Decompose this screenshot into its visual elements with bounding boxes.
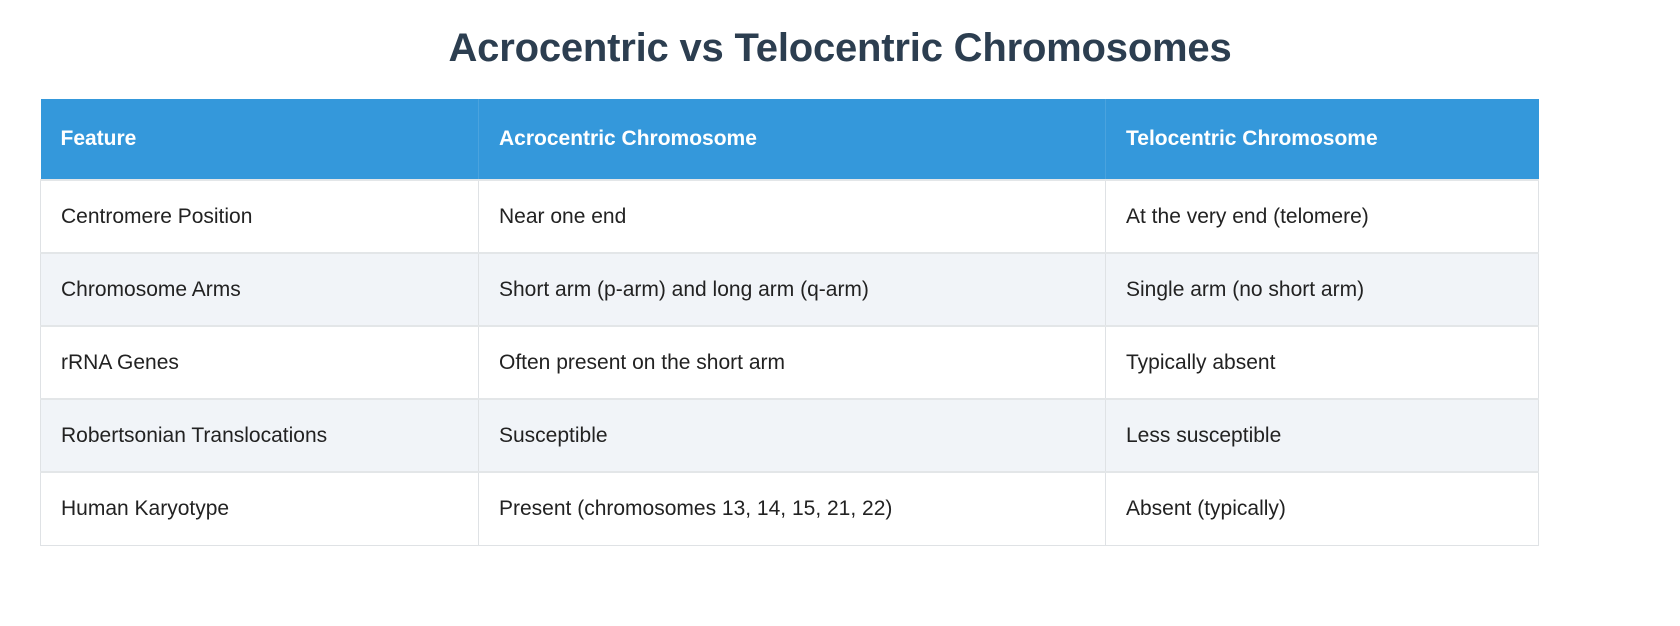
cell-acrocentric: Susceptible <box>479 399 1106 472</box>
cell-telocentric: At the very end (telomere) <box>1106 180 1539 253</box>
cell-telocentric: Single arm (no short arm) <box>1106 253 1539 326</box>
cell-acrocentric: Present (chromosomes 13, 14, 15, 21, 22) <box>479 472 1106 545</box>
cell-feature: Robertsonian Translocations <box>41 399 479 472</box>
cell-telocentric: Absent (typically) <box>1106 472 1539 545</box>
cell-acrocentric: Short arm (p-arm) and long arm (q-arm) <box>479 253 1106 326</box>
column-header-acrocentric[interactable]: Acrocentric Chromosome <box>479 99 1106 180</box>
cell-feature: Chromosome Arms <box>41 253 479 326</box>
comparison-table-container: Feature Acrocentric Chromosome Telocentr… <box>40 99 1538 546</box>
page-title: Acrocentric vs Telocentric Chromosomes <box>0 0 1680 74</box>
cell-telocentric: Less susceptible <box>1106 399 1539 472</box>
column-header-feature[interactable]: Feature <box>41 99 479 180</box>
cell-acrocentric: Near one end <box>479 180 1106 253</box>
table-row: Human Karyotype Present (chromosomes 13,… <box>41 472 1539 545</box>
table-header-row: Feature Acrocentric Chromosome Telocentr… <box>41 99 1539 180</box>
table-header: Feature Acrocentric Chromosome Telocentr… <box>41 99 1539 180</box>
cell-telocentric: Typically absent <box>1106 326 1539 399</box>
table-body: Centromere Position Near one end At the … <box>41 180 1539 545</box>
comparison-table: Feature Acrocentric Chromosome Telocentr… <box>40 99 1539 546</box>
cell-feature: rRNA Genes <box>41 326 479 399</box>
cell-acrocentric: Often present on the short arm <box>479 326 1106 399</box>
column-header-telocentric[interactable]: Telocentric Chromosome <box>1106 99 1539 180</box>
table-row: rRNA Genes Often present on the short ar… <box>41 326 1539 399</box>
table-row: Robertsonian Translocations Susceptible … <box>41 399 1539 472</box>
cell-feature: Human Karyotype <box>41 472 479 545</box>
cell-feature: Centromere Position <box>41 180 479 253</box>
table-row: Centromere Position Near one end At the … <box>41 180 1539 253</box>
table-row: Chromosome Arms Short arm (p-arm) and lo… <box>41 253 1539 326</box>
page-root: Acrocentric vs Telocentric Chromosomes F… <box>0 0 1680 626</box>
